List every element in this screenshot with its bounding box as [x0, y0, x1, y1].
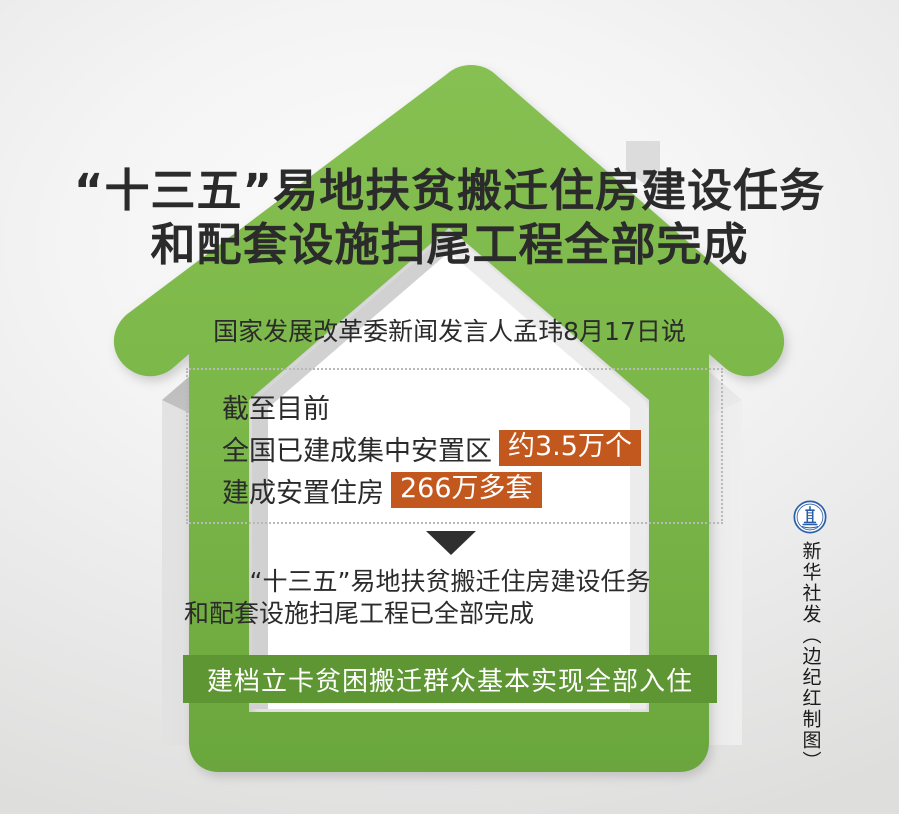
title-line-1: “十三五”易地扶贫搬迁住房建设任务 — [0, 168, 899, 213]
stats-rows: 截至目前 全国已建成集中安置区 约3.5万个 建成安置住房 266万多套 — [222, 386, 742, 512]
page-title: “十三五”易地扶贫搬迁住房建设任务 和配套设施扫尾工程全部完成 — [0, 168, 899, 267]
stat-value-highlight: 266万多套 — [391, 472, 542, 508]
stat-label: 全国已建成集中安置区 — [222, 429, 492, 468]
credit-text: 新华社发（边纪红制图） — [801, 541, 820, 803]
down-triangle-icon — [426, 531, 476, 555]
subtitle: 国家发展改革委新闻发言人孟玮8月17日说 — [0, 312, 899, 348]
infographic-canvas: “十三五”易地扶贫搬迁住房建设任务 和配套设施扫尾工程全部完成 国家发展改革委新… — [0, 0, 899, 814]
highlight-banner-text: 建档立卡贫困搬迁群众基本实现全部入住 — [207, 661, 693, 698]
stat-row: 建成安置住房 266万多套 — [222, 470, 742, 510]
conclusion-text: “十三五”易地扶贫搬迁住房建设任务 和配套设施扫尾工程已全部完成 — [180, 566, 720, 630]
conclusion-line-2: 和配套设施扫尾工程已全部完成 — [180, 598, 720, 630]
conclusion-line-1: “十三五”易地扶贫搬迁住房建设任务 — [180, 566, 720, 598]
highlight-banner: 建档立卡贫困搬迁群众基本实现全部入住 — [183, 655, 717, 703]
stats-intro-label: 截至目前 — [222, 387, 330, 426]
credit-block: 新华社发（边纪红制图） — [787, 500, 833, 803]
stats-intro-row: 截至目前 — [222, 386, 742, 426]
stat-label: 建成安置住房 — [222, 471, 384, 510]
xinhua-emblem-icon — [793, 500, 827, 534]
title-line-2: 和配套设施扫尾工程全部完成 — [0, 222, 899, 267]
stat-row: 全国已建成集中安置区 约3.5万个 — [222, 428, 742, 468]
stat-value-highlight: 约3.5万个 — [499, 430, 641, 466]
